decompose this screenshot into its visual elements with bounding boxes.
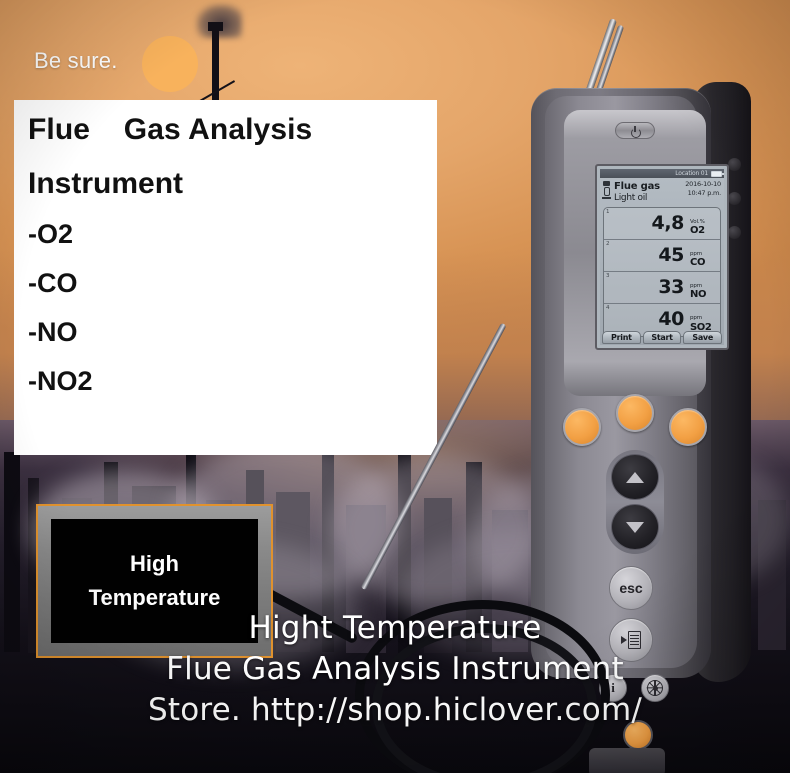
lcd-header: Flue gas Light oil 2016-10-10 10:47 p.m.: [600, 178, 724, 206]
row-index: 1: [606, 209, 610, 215]
time-label: 10:47 p.m.: [685, 189, 721, 198]
reading-value: 33: [658, 278, 684, 297]
list-item: -CO: [28, 270, 437, 297]
device-body: esc i: [531, 88, 711, 678]
overlay-line-3: Store. http://shop.hiclover.com/: [0, 690, 790, 731]
function-button-left[interactable]: [563, 408, 601, 446]
lcd-content: Location 01 Flue gas Light oil: [600, 169, 724, 345]
chimney-smoke-plume: [196, 4, 242, 38]
reading-unit: ppm: [690, 283, 702, 289]
down-arrow-icon: [626, 522, 644, 533]
navigation-pad: [606, 450, 664, 554]
list-item: -O2: [28, 221, 437, 248]
reading-value: 4,8: [652, 214, 684, 233]
brand-logo: Be sure.: [34, 38, 214, 90]
device-bottom-cap: [589, 748, 665, 773]
grip-bump-icon: [728, 192, 741, 205]
reading-value: 40: [658, 310, 684, 329]
row-index: 4: [606, 305, 610, 311]
reading-unit: ppm: [690, 251, 702, 257]
overlay-line-2: Flue Gas Analysis Instrument: [0, 649, 790, 690]
battery-icon: [711, 171, 722, 177]
advert-stage: Be sure. Flue Gas Analysis Instrument -O…: [0, 0, 790, 773]
measurement-mode-label: Flue gas: [614, 180, 660, 193]
grip-bump-icon: [728, 226, 741, 239]
reading-gas: O2: [690, 226, 714, 237]
readings-table: 1 4,8 Vol.% O2 2 45 ppm: [603, 207, 721, 337]
reading-gas: NO: [690, 290, 714, 301]
brand-tagline: Be sure.: [34, 48, 118, 74]
nav-up-button[interactable]: [611, 454, 659, 500]
info-panel-bullet-list: -O2 -CO -NO -NO2: [28, 221, 437, 395]
fuel-type-label: Light oil: [614, 193, 660, 205]
callout-line-1: High: [130, 547, 179, 581]
date-label: 2016-10-10: [685, 180, 721, 189]
table-row: 3 33 ppm NO: [604, 272, 720, 304]
info-panel-title-line1: Flue Gas Analysis: [28, 114, 437, 146]
softkey-save[interactable]: Save: [683, 331, 722, 344]
row-index: 3: [606, 273, 610, 279]
brand-dot-icon: [142, 36, 198, 92]
nav-down-button[interactable]: [611, 504, 659, 550]
info-panel: Flue Gas Analysis Instrument -O2 -CO -NO…: [14, 100, 437, 455]
function-button-right[interactable]: [669, 408, 707, 446]
esc-button[interactable]: esc: [609, 566, 653, 610]
info-panel-title-line2: Instrument: [28, 168, 437, 200]
reading-gas: CO: [690, 258, 714, 269]
overlay-line-1: Hight Temperature: [0, 608, 790, 649]
reading-unit: Vol.%: [690, 219, 705, 225]
function-button-center[interactable]: [616, 394, 654, 432]
location-label: Location 01: [675, 170, 708, 177]
table-row: 2 45 ppm CO: [604, 240, 720, 272]
fuel-probe-icon: [602, 181, 611, 199]
grip-bump-icon: [728, 158, 741, 171]
bottom-overlay-text: Hight Temperature Flue Gas Analysis Inst…: [0, 608, 790, 732]
device-lcd-screen: Location 01 Flue gas Light oil: [595, 164, 729, 350]
lcd-status-bar: Location 01: [600, 169, 724, 178]
softkey-start[interactable]: Start: [643, 331, 682, 344]
reading-unit: ppm: [690, 315, 702, 321]
row-index: 2: [606, 241, 610, 247]
up-arrow-icon: [626, 472, 644, 483]
softkey-print[interactable]: Print: [602, 331, 641, 344]
table-row: 1 4,8 Vol.% O2: [604, 208, 720, 240]
lcd-softkey-bar: Print Start Save: [600, 331, 724, 344]
power-icon: [630, 126, 640, 136]
reading-value: 45: [658, 246, 684, 265]
list-item: -NO2: [28, 368, 437, 395]
power-button[interactable]: [615, 122, 655, 139]
list-item: -NO: [28, 319, 437, 346]
